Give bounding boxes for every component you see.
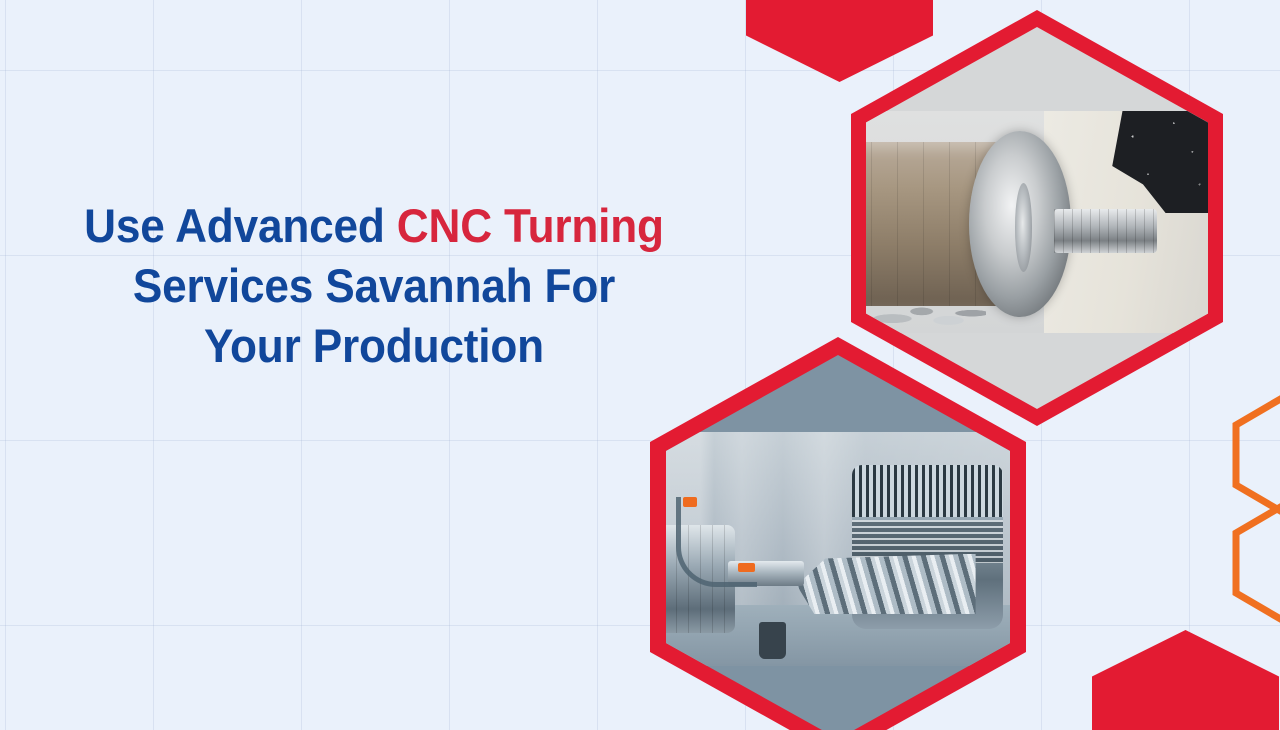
milling-scene (666, 432, 1010, 666)
headline-line-1: Use Advanced CNC Turning (58, 196, 690, 256)
lathe-flange-bore (1015, 183, 1032, 272)
coolant-nozzle-rear (683, 497, 697, 506)
headline-line-3: Your Production (58, 316, 690, 376)
solid-red-hexagon-bottom-right (1092, 630, 1279, 730)
coolant-hose (676, 497, 757, 586)
headline-accent-cnc-turning: CNC Turning (397, 199, 664, 252)
page-title: Use Advanced CNC Turning Services Savann… (58, 196, 690, 376)
headline-line-1-prefix: Use Advanced (84, 199, 397, 252)
milling-fixture-bolt (759, 622, 787, 659)
lathe-spindle-shaft (1054, 209, 1157, 253)
coolant-nozzle-front (738, 563, 755, 572)
orange-hexagon-outline-lower (1234, 500, 1280, 626)
helical-gear-teeth (797, 554, 976, 615)
headline-block: Use Advanced CNC Turning Services Savann… (38, 196, 710, 376)
headline-line-2: Services Savannah For (58, 256, 690, 316)
lathe-scene (866, 111, 1208, 333)
cnc-banner: Use Advanced CNC Turning Services Savann… (0, 0, 1280, 730)
cnc-milling-hexagon (650, 337, 1026, 730)
